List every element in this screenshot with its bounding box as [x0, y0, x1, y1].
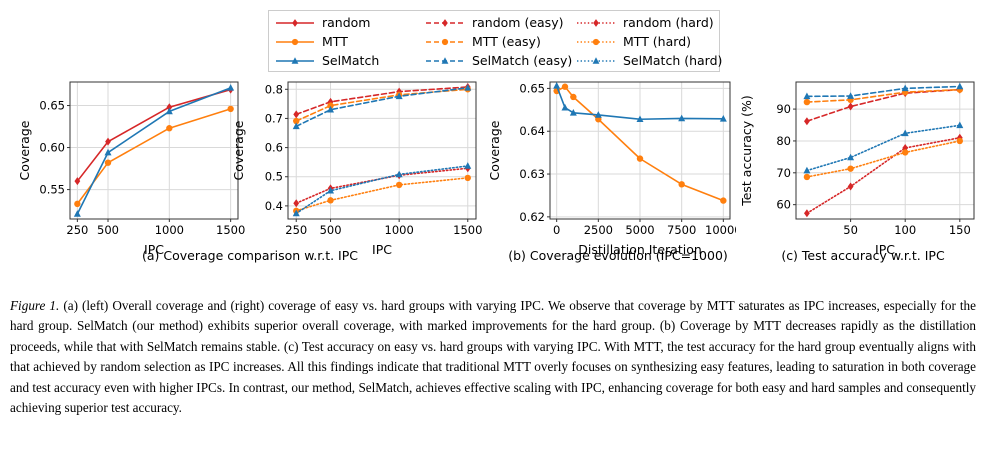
series-selmatch-hard	[803, 122, 963, 174]
chart-panel-coverage-overall: 0.550.600.6525050010001500IPCCoverage	[18, 72, 246, 272]
svg-text:0.63: 0.63	[519, 167, 545, 181]
svg-text:250: 250	[285, 223, 307, 237]
svg-text:0.5: 0.5	[265, 170, 283, 184]
legend-label: random (hard)	[623, 17, 714, 29]
figure-caption-label: Figure 1.	[10, 298, 59, 313]
legend-item-random-easy: random (easy)	[419, 14, 570, 33]
svg-text:250: 250	[66, 223, 88, 237]
svg-text:90: 90	[776, 102, 791, 116]
series-random-hard	[293, 164, 470, 207]
svg-text:80: 80	[776, 134, 791, 148]
legend-label: SelMatch (easy)	[472, 55, 572, 67]
legend-item-mtt: MTT	[269, 33, 419, 52]
legend-label: random	[322, 17, 370, 29]
figure-caption: Figure 1. (a) (left) Overall coverage an…	[10, 296, 976, 418]
subcaption-b: (b) Coverage evolution (IPC=1000)	[500, 248, 736, 263]
legend-swatch	[425, 55, 465, 67]
legend-swatch	[275, 55, 315, 67]
figure-caption-text: (a) (left) Overall coverage and (right) …	[10, 298, 976, 415]
figure-1: randomrandom (easy)random (hard)MTTMTT (…	[0, 0, 986, 456]
svg-text:0.4: 0.4	[265, 199, 283, 213]
legend-label: MTT (easy)	[472, 36, 541, 48]
chart-panel_a_easy_hard: 0.40.50.60.70.825050010001500IPCCoverage	[232, 72, 484, 257]
legend-label: random (easy)	[472, 17, 563, 29]
svg-text:10000: 10000	[705, 223, 736, 237]
svg-text:0.55: 0.55	[39, 183, 65, 197]
legend-item-selmatch: SelMatch	[269, 52, 419, 71]
chart-panel_c: 6070809050100150IPCTest accuracy (%)	[740, 72, 982, 257]
legend-swatch	[576, 55, 616, 67]
series-mtt-hard	[293, 175, 471, 214]
svg-text:0: 0	[553, 223, 560, 237]
subcaption-c: (c) Test accuracy w.r.t. IPC	[744, 248, 982, 263]
chart-panel-coverage-easy-hard: 0.40.50.60.70.825050010001500IPCCoverage	[232, 72, 484, 272]
legend-item-random-hard: random (hard)	[570, 14, 721, 33]
svg-text:5000: 5000	[625, 223, 654, 237]
legend-swatch	[576, 36, 616, 48]
svg-text:150: 150	[949, 223, 971, 237]
legend-item-selmatch-hard: SelMatch (hard)	[570, 52, 721, 71]
svg-text:0.64: 0.64	[519, 124, 545, 138]
svg-text:Coverage: Coverage	[18, 120, 32, 180]
legend-swatch	[576, 17, 616, 29]
svg-text:50: 50	[843, 223, 858, 237]
svg-text:0.65: 0.65	[519, 81, 545, 95]
svg-text:500: 500	[320, 223, 342, 237]
subcaption-a: (a) Coverage comparison w.r.t. IPC	[60, 248, 440, 263]
svg-text:0.6: 0.6	[265, 141, 283, 155]
svg-text:Coverage: Coverage	[488, 120, 502, 180]
svg-text:500: 500	[97, 223, 119, 237]
svg-text:70: 70	[776, 166, 791, 180]
legend-label: MTT (hard)	[623, 36, 691, 48]
chart-panel_b: 0.620.630.640.65025005000750010000Distil…	[488, 72, 736, 257]
svg-text:1500: 1500	[453, 223, 482, 237]
svg-text:0.62: 0.62	[519, 210, 545, 224]
svg-text:0.65: 0.65	[39, 99, 65, 113]
legend-item-mtt-hard: MTT (hard)	[570, 33, 721, 52]
legend-item-selmatch-easy: SelMatch (easy)	[419, 52, 570, 71]
legend-item-random: random	[269, 14, 419, 33]
svg-text:1000: 1000	[155, 223, 184, 237]
series-selmatch	[74, 84, 234, 217]
svg-text:Coverage: Coverage	[232, 120, 246, 180]
svg-text:60: 60	[776, 198, 791, 212]
chart-panel_a_overall: 0.550.600.6525050010001500IPCCoverage	[18, 72, 246, 257]
svg-text:2500: 2500	[584, 223, 613, 237]
legend-item-mtt-easy: MTT (easy)	[419, 33, 570, 52]
svg-text:0.8: 0.8	[265, 82, 283, 96]
legend-swatch	[275, 17, 315, 29]
svg-text:100: 100	[894, 223, 916, 237]
svg-text:0.7: 0.7	[265, 111, 283, 125]
chart-panel-coverage-evolution: 0.620.630.640.65025005000750010000Distil…	[488, 72, 736, 272]
svg-text:1000: 1000	[385, 223, 414, 237]
legend-swatch	[425, 36, 465, 48]
series-random-easy	[293, 83, 470, 118]
chart-panel-test-accuracy: 6070809050100150IPCTest accuracy (%)	[740, 72, 982, 272]
legend-swatch	[275, 36, 315, 48]
legend-swatch	[425, 17, 465, 29]
series-mtt-hard	[804, 138, 963, 180]
legend-label: SelMatch (hard)	[623, 55, 722, 67]
svg-text:0.60: 0.60	[39, 141, 65, 155]
svg-text:Test accuracy (%): Test accuracy (%)	[740, 95, 754, 207]
legend-label: MTT	[322, 36, 348, 48]
chart-legend: randomrandom (easy)random (hard)MTTMTT (…	[268, 10, 720, 72]
legend-label: SelMatch	[322, 55, 379, 67]
svg-text:7500: 7500	[667, 223, 696, 237]
